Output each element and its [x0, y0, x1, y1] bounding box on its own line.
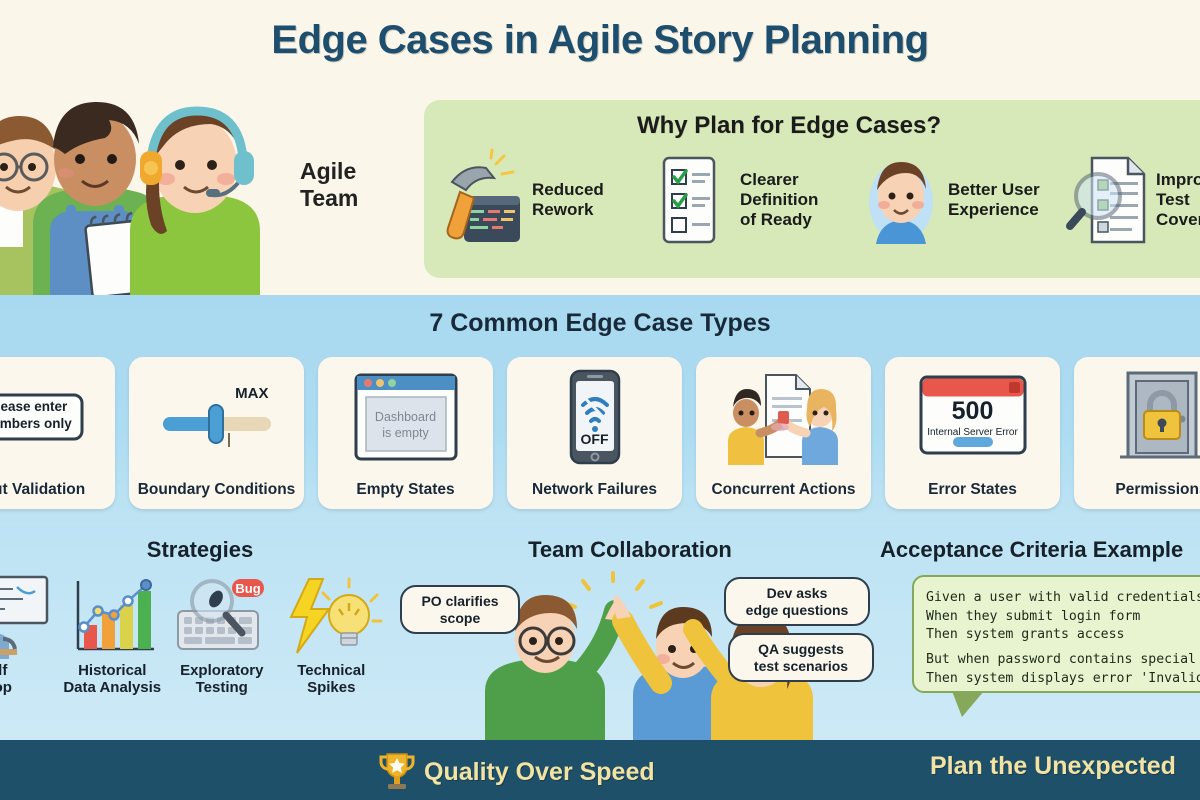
input-tooltip-icon: Please enter numbers only [0, 369, 88, 465]
why-plan-heading: Why Plan for Edge Cases? [424, 112, 1154, 140]
strategy-label-line1: lf [0, 663, 54, 680]
why-item-line2: Experience [948, 200, 1040, 220]
slider-icon: MAX [157, 369, 277, 465]
strategies-heading: Strategies [60, 537, 340, 563]
strategy-label-line2: Data Analysis [62, 680, 164, 697]
qa-bubble-line1: QA suggests [740, 641, 862, 658]
agile-team-label-line2: Team [300, 185, 410, 212]
why-item-label: Better User Experience [948, 180, 1040, 220]
why-item-label: Reduced Rework [532, 180, 604, 220]
why-item-line3: Coverage [1156, 210, 1200, 230]
strategy-item-exploratory-testing[interactable]: Bug Exploratory Testing [171, 577, 273, 696]
why-item-line3: of Ready [740, 210, 818, 230]
why-item-reduced-rework: Reduced Rework [446, 152, 638, 248]
why-item-line1: Improved [1156, 170, 1200, 190]
input-tooltip-line1: Please enter [0, 399, 88, 416]
agile-team-label-line1: Agile [300, 158, 410, 185]
person-whiteboard-icon [0, 577, 49, 659]
type-card-input-validation[interactable]: Please enter numbers only Input Validati… [0, 357, 115, 509]
checklist-icon [654, 152, 732, 248]
po-bubble-line1: PO clarifies [412, 593, 508, 610]
empty-state-line2: is empty [346, 425, 466, 441]
strategy-label: Exploratory Testing [171, 663, 273, 696]
why-item-line1: Better User [948, 180, 1040, 200]
top-section: Edge Cases in Agile Story Planning [0, 0, 1200, 295]
type-card-label: Error States [885, 481, 1060, 499]
error-500-icon: 500 Internal Server Error [913, 369, 1033, 465]
why-plan-panel: Why Plan for Edge Cases? [424, 100, 1200, 278]
why-item-line2: Definition [740, 190, 818, 210]
banner-left: Quality Over Speed [380, 752, 655, 792]
ac-line: When they submit login form [926, 608, 1200, 627]
type-card-concurrent-actions[interactable]: Concurrent Actions [696, 357, 871, 509]
acceptance-criteria-heading: Acceptance Criteria Example [880, 537, 1200, 563]
strategy-label: Historical Data Analysis [62, 663, 164, 696]
keyboard-magnifier-bug-icon: Bug [176, 577, 268, 659]
ac-line: But when password contains special ch [926, 651, 1200, 670]
bug-badge-text: Bug [235, 581, 260, 596]
why-item-label: Clearer Definition of Ready [740, 170, 818, 230]
acceptance-criteria-pointer [952, 691, 984, 717]
strategy-item-1[interactable]: lf op [0, 577, 54, 696]
ac-line: Then system displays error 'Invalid ch [926, 670, 1200, 689]
why-item-line1: Reduced [532, 180, 604, 200]
qa-bubble: QA suggests test scenarios [728, 633, 874, 682]
type-card-label: Concurrent Actions [696, 481, 871, 499]
banner-right-label: Plan the Unexpected [930, 752, 1176, 781]
trophy-icon [380, 752, 414, 792]
magnifier-document-icon [1070, 152, 1148, 248]
slider-max-label: MAX [235, 385, 268, 402]
strategy-item-historical-data-analysis[interactable]: Historical Data Analysis [62, 577, 164, 696]
hammer-code-icon [446, 152, 524, 248]
error-code: 500 [913, 399, 1033, 424]
two-people-document-icon [724, 369, 844, 465]
ac-line: Given a user with valid credentials [926, 589, 1200, 608]
strategy-label-line1: Historical [62, 663, 164, 680]
type-card-boundary-conditions[interactable]: MAX Boundary Conditions [129, 357, 304, 509]
strategy-label-line2: op [0, 680, 54, 697]
strategy-label-line1: Exploratory [171, 663, 273, 680]
why-item-test-coverage: Improved Test Coverage [1070, 152, 1200, 248]
why-item-line2: Test [1156, 190, 1200, 210]
bottom-banner: Quality Over Speed Plan the Unexpected [0, 740, 1200, 800]
dev-bubble: Dev asks edge questions [724, 577, 870, 626]
lightning-bulb-icon [285, 577, 377, 659]
dev-bubble-line2: edge questions [736, 602, 858, 619]
strategy-label: Technical Spikes [281, 663, 383, 696]
error-message: Internal Server Error [913, 427, 1033, 438]
type-card-label: Boundary Conditions [129, 481, 304, 499]
banner-right: Plan the Unexpected [930, 752, 1176, 781]
why-item-line1: Clearer [740, 170, 818, 190]
type-card-error-states[interactable]: 500 Internal Server Error Error States [885, 357, 1060, 509]
ac-line: Then system grants access [926, 626, 1200, 645]
strategies-row: lf op [0, 577, 382, 696]
strategy-label-line2: Testing [171, 680, 273, 697]
type-card-label: Empty States [318, 481, 493, 499]
type-card-label: Input Validation [0, 481, 115, 499]
agile-team-label: Agile Team [300, 158, 410, 212]
po-bubble-line2: scope [412, 610, 508, 627]
empty-window-icon: Dashboard is empty [346, 369, 466, 465]
edge-case-types-section: 7 Common Edge Case Types Please enter nu… [0, 295, 1200, 525]
why-plan-items: Reduced Rework [446, 152, 1200, 248]
empty-state-line1: Dashboard [346, 409, 466, 425]
edge-case-card-row: Please enter numbers only Input Validati… [0, 357, 1200, 509]
why-item-line2: Rework [532, 200, 604, 220]
collaboration-heading: Team Collaboration [420, 537, 840, 563]
dev-bubble-line1: Dev asks [736, 585, 858, 602]
strategy-label-line2: Spikes [281, 680, 383, 697]
input-tooltip-line2: numbers only [0, 416, 88, 433]
strategy-label-line1: Technical [281, 663, 383, 680]
why-item-better-ux: Better User Experience [862, 152, 1054, 248]
infographic-canvas: Edge Cases in Agile Story Planning [0, 0, 1200, 800]
type-card-label: Permissions [1074, 481, 1200, 499]
team-member-3 [130, 110, 260, 295]
why-item-label: Improved Test Coverage [1156, 170, 1200, 230]
bar-chart-trend-icon [66, 577, 158, 659]
phone-wifi-off-icon: OFF [535, 369, 655, 465]
type-card-empty-states[interactable]: Dashboard is empty Empty States [318, 357, 493, 509]
strategy-item-technical-spikes[interactable]: Technical Spikes [281, 577, 383, 696]
type-card-label: Network Failures [507, 481, 682, 499]
user-face-icon [862, 152, 940, 248]
banner-left-label: Quality Over Speed [424, 758, 655, 787]
qa-bubble-line2: test scenarios [740, 658, 862, 675]
po-bubble: PO clarifies scope [400, 585, 520, 634]
type-card-network-failures[interactable]: OFF Network Failures [507, 357, 682, 509]
edge-case-types-heading: 7 Common Edge Case Types [0, 309, 1200, 338]
acceptance-criteria-box: Given a user with valid credentials When… [912, 575, 1200, 693]
why-item-definition-of-ready: Clearer Definition of Ready [654, 152, 846, 248]
type-card-permissions[interactable]: Permissions [1074, 357, 1200, 509]
agile-team-illustration [0, 55, 288, 295]
strategy-label: lf op [0, 663, 54, 696]
door-lock-icon [1102, 369, 1200, 465]
wifi-off-label: OFF [535, 431, 655, 447]
